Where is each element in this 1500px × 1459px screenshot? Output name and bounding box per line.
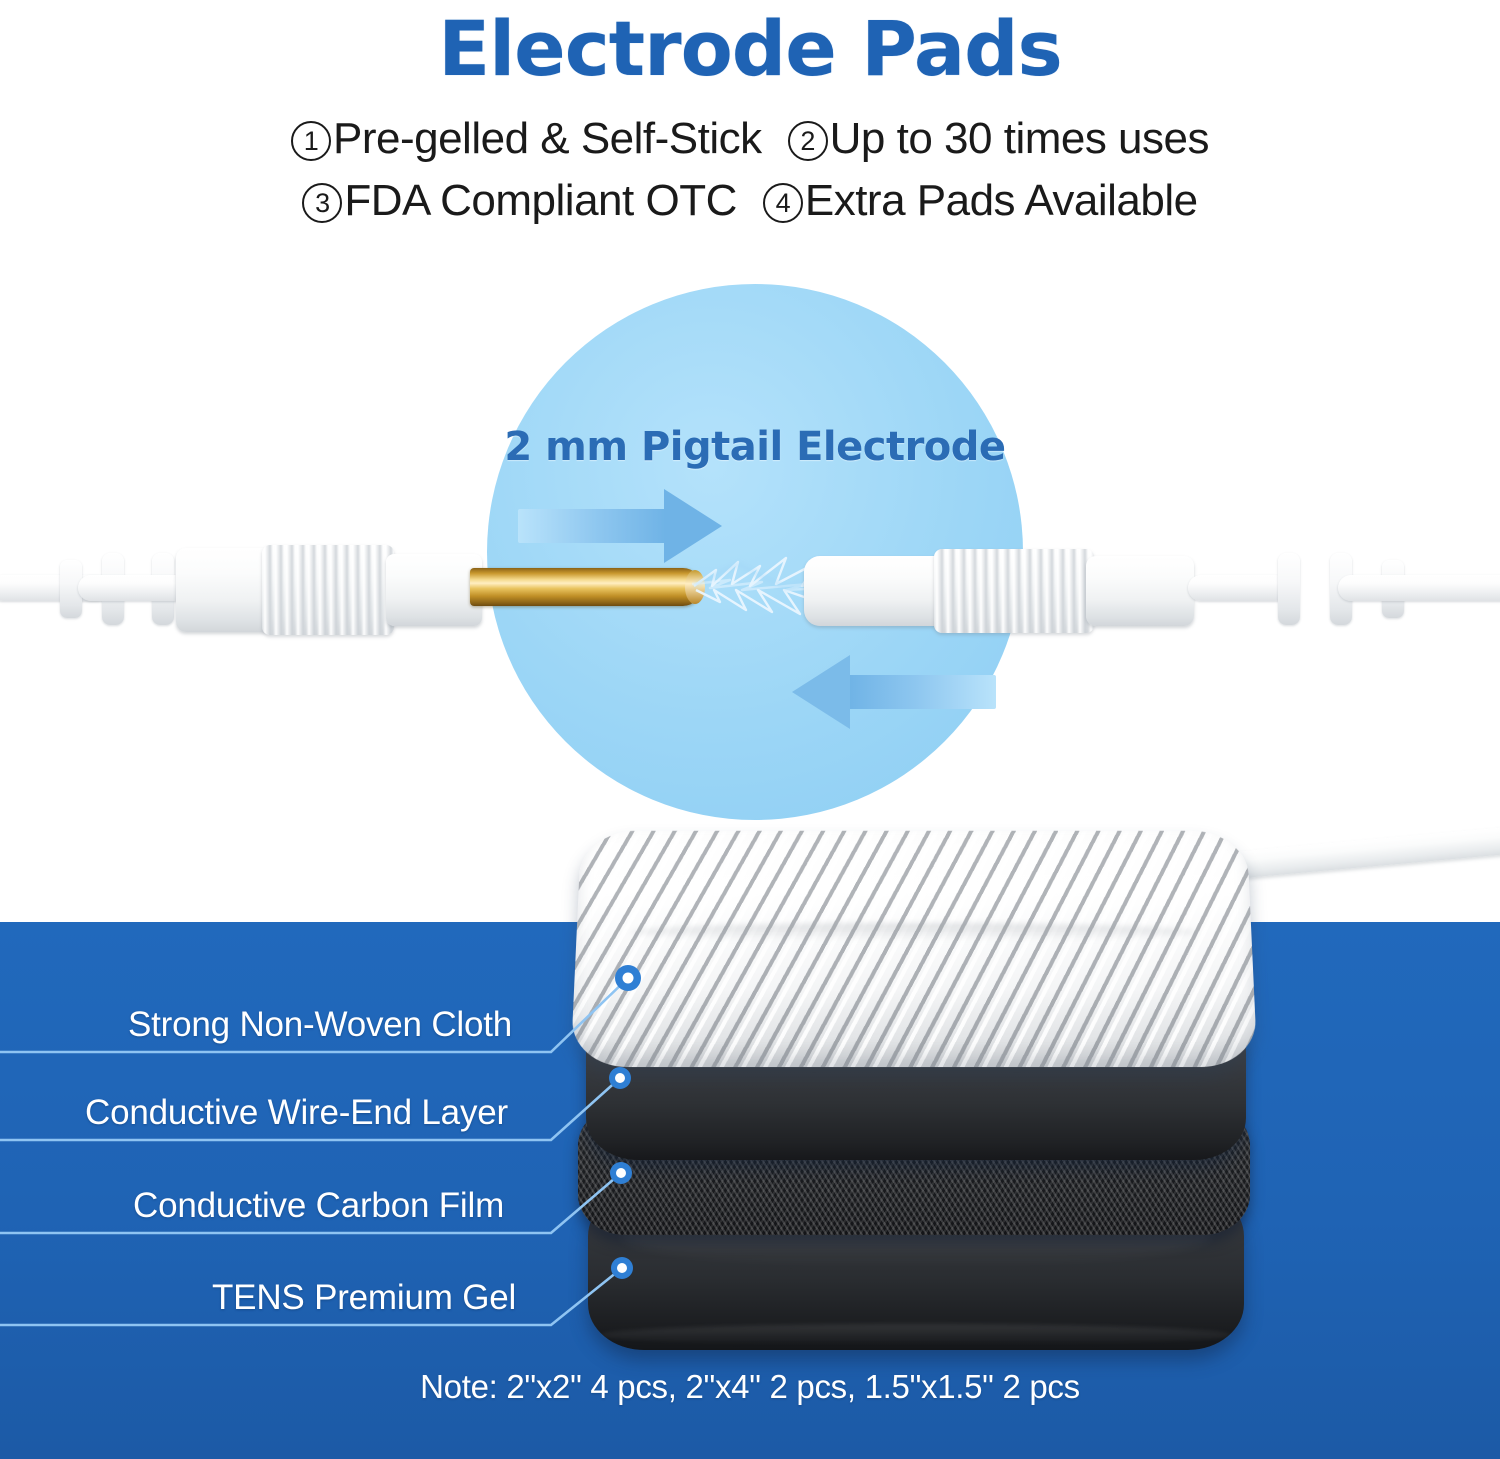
layer-label-non-woven-cloth: Strong Non-Woven Cloth bbox=[128, 1005, 512, 1045]
pack-contents-note: Note: 2"x2" 4 pcs, 2"x4" 2 pcs, 1.5"x1.5… bbox=[0, 1368, 1500, 1406]
feature-item-1: 1Pre-gelled & Self-Stick bbox=[291, 108, 762, 170]
connector-left-grip bbox=[262, 545, 394, 635]
connector-right-grip bbox=[934, 549, 1094, 633]
hero-caption: 2 mm Pigtail Electrode bbox=[487, 424, 1023, 470]
feature-item-3: 3FDA Compliant OTC bbox=[302, 170, 736, 232]
gel-rim bbox=[601, 1324, 1231, 1346]
cable-right-tail bbox=[1338, 575, 1500, 601]
feature-item-2: 2Up to 30 times uses bbox=[788, 108, 1209, 170]
connector-right-nose bbox=[804, 556, 944, 626]
circled-number-3-icon: 3 bbox=[302, 183, 342, 223]
feature-item-4: 4Extra Pads Available bbox=[763, 170, 1198, 232]
connector-left-barrel bbox=[176, 548, 272, 632]
cable-left-mid bbox=[78, 575, 188, 601]
feature-list: 1Pre-gelled & Self-Stick2Up to 30 times … bbox=[0, 108, 1500, 232]
gold-pin bbox=[470, 568, 702, 606]
feature-label-3: FDA Compliant OTC bbox=[344, 176, 736, 225]
circled-number-2-icon: 2 bbox=[788, 121, 828, 161]
connector-left-nose bbox=[386, 554, 482, 626]
arrow-right-shaft bbox=[518, 509, 666, 543]
circled-number-4-icon: 4 bbox=[763, 183, 803, 223]
layer-label-conductive-wire-end: Conductive Wire-End Layer bbox=[85, 1093, 508, 1133]
feature-row-2: 3FDA Compliant OTC4Extra Pads Available bbox=[0, 170, 1500, 232]
feature-label-4: Extra Pads Available bbox=[805, 176, 1198, 225]
arrow-left-icon bbox=[790, 655, 996, 729]
cloth-crease bbox=[630, 923, 1197, 941]
feature-label-2: Up to 30 times uses bbox=[830, 114, 1209, 163]
connector-right-barrel bbox=[1086, 556, 1194, 626]
arrow-left-head bbox=[792, 655, 850, 729]
cable-right-mid bbox=[1188, 575, 1288, 601]
page-title: Electrode Pads bbox=[0, 4, 1500, 93]
feature-label-1: Pre-gelled & Self-Stick bbox=[333, 114, 762, 163]
layer-label-conductive-carbon-film: Conductive Carbon Film bbox=[133, 1186, 504, 1226]
arrow-left-shaft bbox=[848, 675, 996, 709]
product-infographic: Electrode Pads 1Pre-gelled & Self-Stick2… bbox=[0, 0, 1500, 1459]
feature-row-1: 1Pre-gelled & Self-Stick2Up to 30 times … bbox=[0, 108, 1500, 170]
strain-relief-rib-4 bbox=[1278, 553, 1300, 625]
pad-layer-non-woven-cloth bbox=[570, 831, 1257, 1067]
circled-number-1-icon: 1 bbox=[291, 121, 331, 161]
layer-label-tens-premium-gel: TENS Premium Gel bbox=[212, 1278, 516, 1318]
